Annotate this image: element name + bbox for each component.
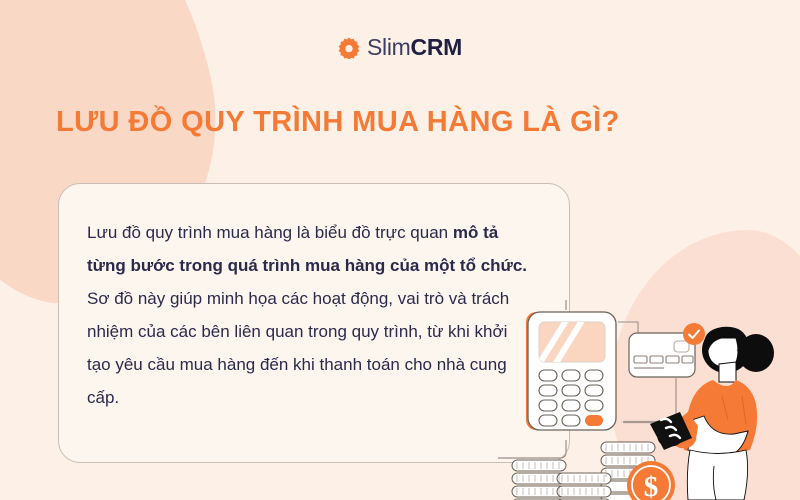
content-card: Lưu đồ quy trình mua hàng là biểu đồ trự… bbox=[58, 183, 570, 463]
poster-canvas: SlimCRM LƯU ĐỒ QUY TRÌNH MUA HÀNG LÀ GÌ?… bbox=[0, 0, 800, 500]
paragraph-definition-lead: Lưu đồ quy trình mua hàng là biểu đồ trự… bbox=[87, 223, 453, 242]
decorative-blob-right bbox=[610, 230, 800, 500]
content-card-body: Lưu đồ quy trình mua hàng là biểu đồ trự… bbox=[59, 184, 569, 414]
brand-logo-slim: Slim bbox=[367, 34, 411, 60]
brand-logo-text: SlimCRM bbox=[367, 36, 462, 59]
page-title: LƯU ĐỒ QUY TRÌNH MUA HÀNG LÀ GÌ? bbox=[56, 106, 620, 139]
brand-logo[interactable]: SlimCRM bbox=[0, 36, 800, 59]
paragraph-description: Sơ đồ này giúp minh họa các hoạt động, v… bbox=[87, 282, 533, 414]
paragraph-definition: Lưu đồ quy trình mua hàng là biểu đồ trự… bbox=[87, 216, 533, 282]
brand-logo-crm: CRM bbox=[411, 34, 462, 60]
gear-icon bbox=[338, 37, 360, 59]
svg-text:$: $ bbox=[644, 471, 659, 500]
